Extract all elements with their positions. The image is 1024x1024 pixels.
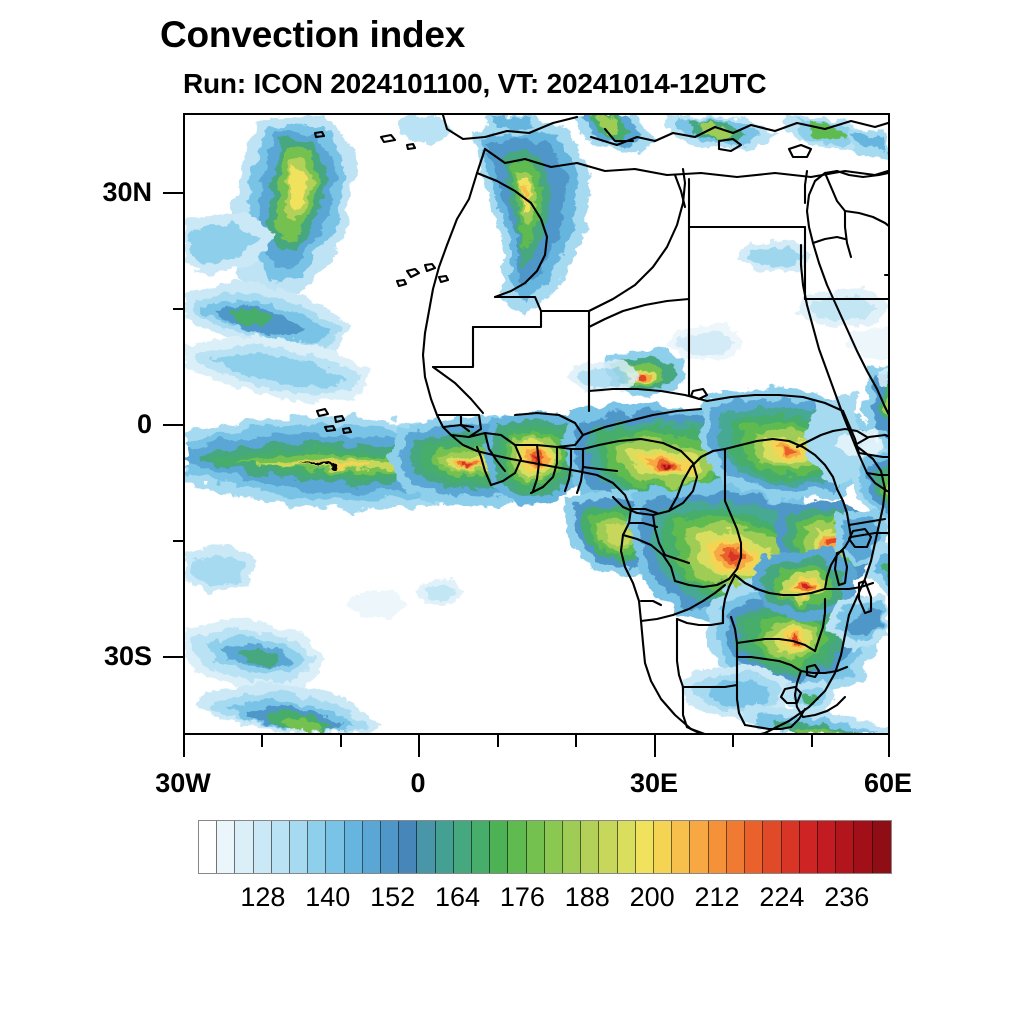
colorbar-segment [782, 821, 800, 873]
ytick-30S [163, 656, 183, 658]
colorbar-tick-label: 236 [802, 884, 892, 911]
colorbar-segment [217, 821, 235, 873]
xtick-20W [261, 735, 263, 747]
xtick-20E [575, 735, 577, 747]
ylabel-30S: 30S [30, 643, 152, 670]
colorbar-segment [254, 821, 272, 873]
colorbar-segment [290, 821, 308, 873]
colorbar-segment [690, 821, 708, 873]
ytick-30N [163, 192, 183, 194]
colorbar-segment [836, 821, 854, 873]
figure-canvas: Convection index Run: ICON 2024101100, V… [0, 0, 1024, 1024]
ytick-15S [173, 540, 183, 542]
xlabel-60E: 60E [818, 770, 958, 797]
xlabel-30W: 30W [113, 770, 253, 797]
ylabel-0: 0 [30, 411, 152, 438]
colorbar-segment [563, 821, 581, 873]
colorbar-segment [363, 821, 381, 873]
colorbar-segment [472, 821, 490, 873]
colorbar-segment [745, 821, 763, 873]
colorbar-segment [618, 821, 636, 873]
xlabel-30E: 30E [584, 770, 724, 797]
map-plot-area[interactable] [183, 113, 890, 735]
colorbar-segment [763, 821, 781, 873]
xtick-0 [418, 735, 420, 757]
xtick-10E [497, 735, 499, 747]
xlabel-0: 0 [348, 770, 488, 797]
colorbar-segment [873, 821, 891, 873]
xtick-60E [888, 735, 890, 757]
page-title: Convection index [160, 16, 465, 53]
xtick-10W [340, 735, 342, 747]
colorbar-segment [545, 821, 563, 873]
colorbar-segment [308, 821, 326, 873]
colorbar-segment [654, 821, 672, 873]
colorbar-segment [381, 821, 399, 873]
colorbar-segment [527, 821, 545, 873]
colorbar-segment [727, 821, 745, 873]
colorbar-segment [235, 821, 253, 873]
colorbar-segment [490, 821, 508, 873]
colorbar-segment [417, 821, 435, 873]
colorbar-segment [508, 821, 526, 873]
colorbar-segment [599, 821, 617, 873]
colorbar-segment [399, 821, 417, 873]
xtick-30E [654, 735, 656, 757]
colorbar-segment [854, 821, 872, 873]
colorbar-segment [272, 821, 290, 873]
colorbar-segment [581, 821, 599, 873]
ylabel-30N: 30N [30, 179, 152, 206]
map-canvas [185, 115, 888, 733]
ytick-15N [173, 308, 183, 310]
xtick-30W [183, 735, 185, 757]
xtick-40E [732, 735, 734, 747]
colorbar-segment [326, 821, 344, 873]
colorbar-segment [454, 821, 472, 873]
colorbar-segment [672, 821, 690, 873]
colorbar[interactable] [198, 820, 892, 874]
xtick-50E [811, 735, 813, 747]
colorbar-segment [636, 821, 654, 873]
colorbar-segment [709, 821, 727, 873]
ytick-0 [163, 424, 183, 426]
run-valid-time-subtitle: Run: ICON 2024101100, VT: 20241014-12UTC [183, 70, 766, 98]
colorbar-segment [199, 821, 217, 873]
colorbar-segment [436, 821, 454, 873]
colorbar-segment [800, 821, 818, 873]
colorbar-segment [818, 821, 836, 873]
colorbar-segment [345, 821, 363, 873]
